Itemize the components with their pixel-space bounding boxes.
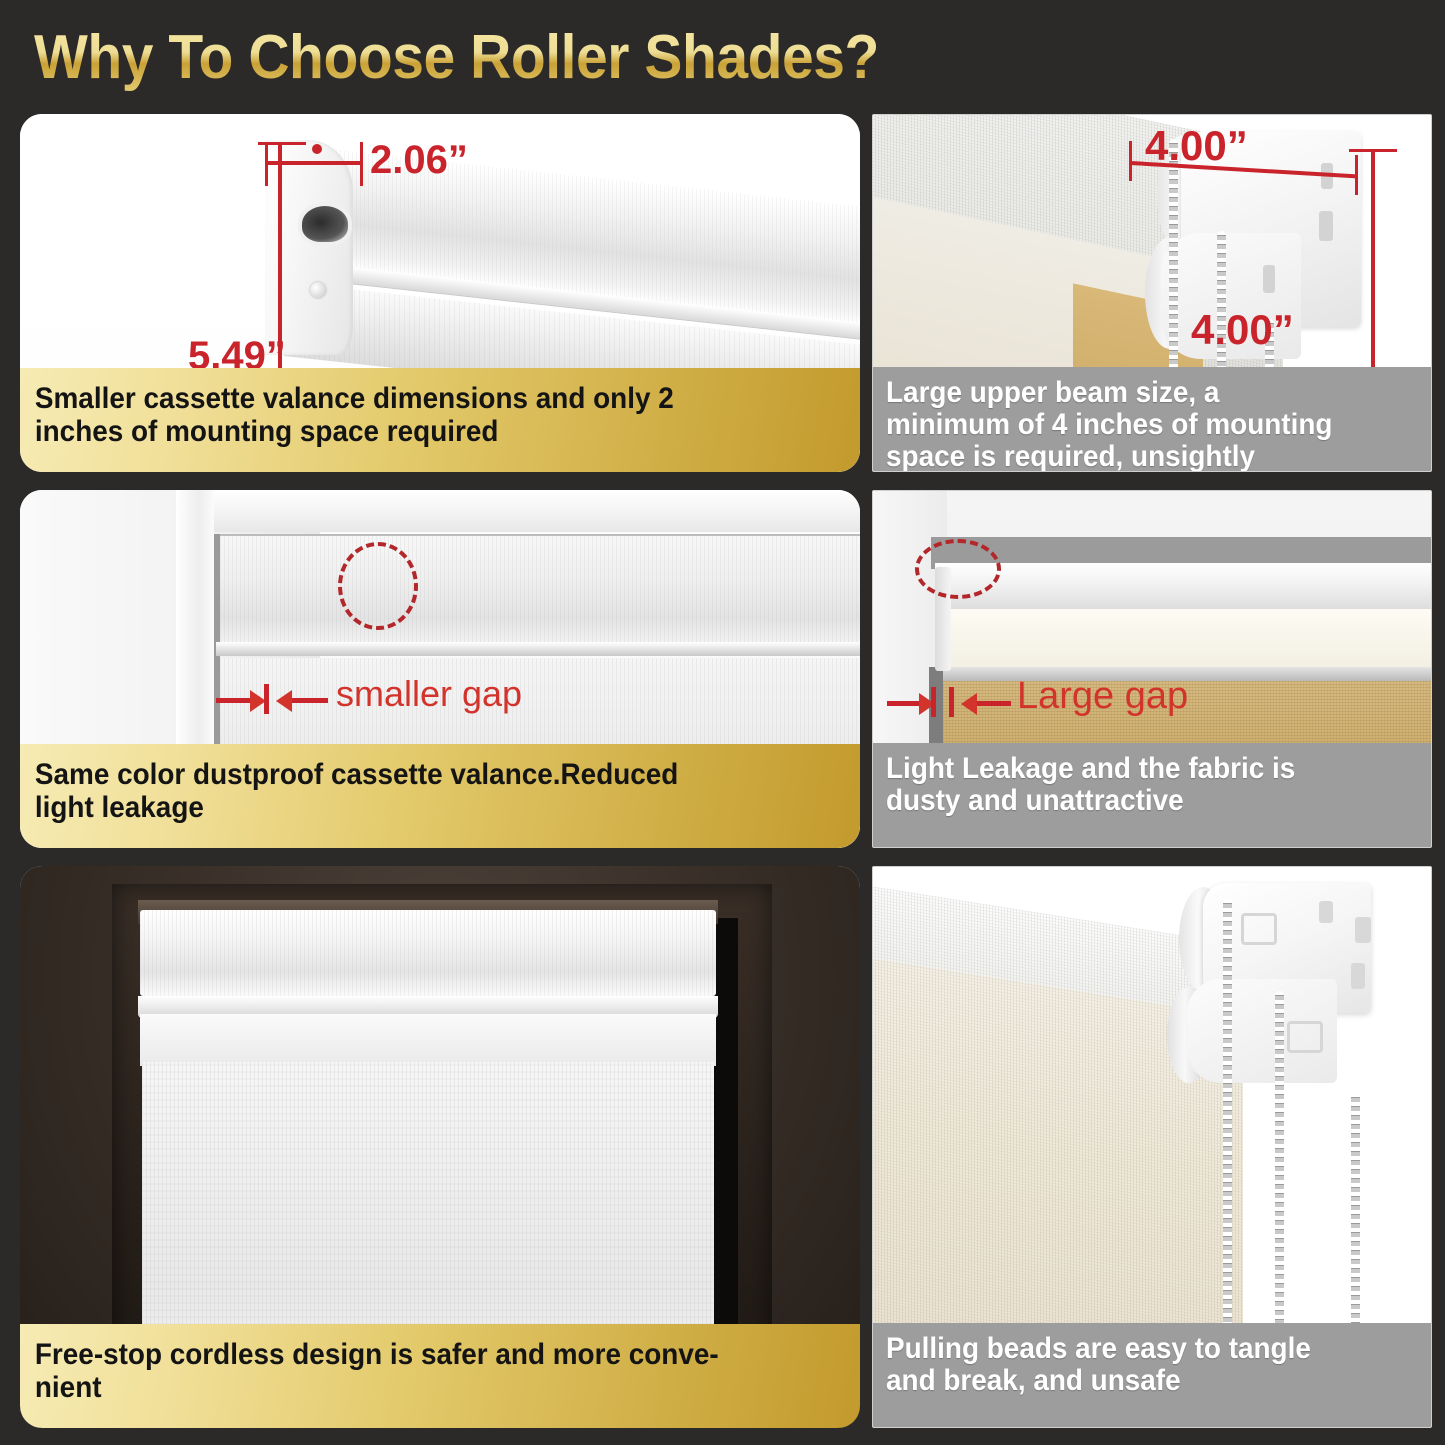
highlight-circle-icon: [915, 539, 1001, 599]
gap-arrow-left-line: [887, 701, 923, 706]
page-title: Why To Choose Roller Shades?: [34, 22, 954, 94]
panel-con-beam-size: 4.00” 4.00” Large upper beam size, a min…: [872, 114, 1432, 472]
valance-slot: [302, 206, 348, 242]
panel-pro-dustproof-valance: smaller gap Same color dustproof cassett…: [20, 490, 860, 848]
roller-tube: [935, 563, 1431, 615]
caption-pro-dustproof-valance: Same color dustproof cassette valance.Re…: [20, 744, 860, 848]
infographic-page: Why To Choose Roller Shades? 2.06”: [0, 0, 1445, 1445]
gap-arrow-right-line: [292, 698, 328, 703]
caption-pro-cordless-design: Free-stop cordless design is safer and m…: [20, 1324, 860, 1428]
panel-pro-cassette-dimensions: 2.06” 5.49” Smaller cassette valance dim…: [20, 114, 860, 472]
panel-con-pulling-beads: Pulling beads are easy to tangle and bre…: [872, 866, 1432, 1428]
valance-screw: [310, 282, 326, 298]
panel-con-light-leakage: Large gap Light Leakage and the fabric i…: [872, 490, 1432, 848]
gap-tick-right: [949, 687, 954, 717]
valance-rail: [216, 642, 860, 656]
gap-arrow-right-head: [276, 690, 292, 712]
caption-con-light-leakage: Light Leakage and the fabric is dusty an…: [873, 743, 1431, 847]
dimension-label-beam-height: 4.00”: [1191, 309, 1294, 351]
highlight-circle-icon: [338, 542, 418, 630]
caption-con-pulling-beads: Pulling beads are easy to tangle and bre…: [873, 1323, 1431, 1427]
dimension-label-width: 2.06”: [370, 140, 468, 180]
gap-arrow-right-line: [977, 701, 1011, 706]
gap-tick: [264, 684, 269, 714]
dim-height-tick-top: [258, 142, 306, 145]
valance-strip: [937, 609, 1431, 671]
gap-arrow-left-line: [216, 698, 254, 703]
gap-tick-left: [931, 687, 936, 717]
gap-arrow-right-head: [961, 693, 977, 715]
dimension-anchor-dot: [312, 144, 322, 154]
annotation-large-gap: Large gap: [1017, 677, 1188, 715]
annotation-smaller-gap: smaller gap: [336, 676, 522, 712]
caption-con-beam-size: Large upper beam size, a minimum of 4 in…: [873, 367, 1431, 471]
caption-pro-cassette-dimensions: Smaller cassette valance dimensions and …: [20, 368, 860, 472]
cassette-valance: [220, 534, 860, 646]
cassette-valance: [140, 910, 716, 996]
panel-pro-cordless-design: Free-stop cordless design is safer and m…: [20, 866, 860, 1428]
bracket-emblem-icon-lower: [1287, 1021, 1323, 1053]
bracket-emblem-icon: [1241, 913, 1277, 945]
dimension-label-beam-width: 4.00”: [1145, 125, 1248, 167]
